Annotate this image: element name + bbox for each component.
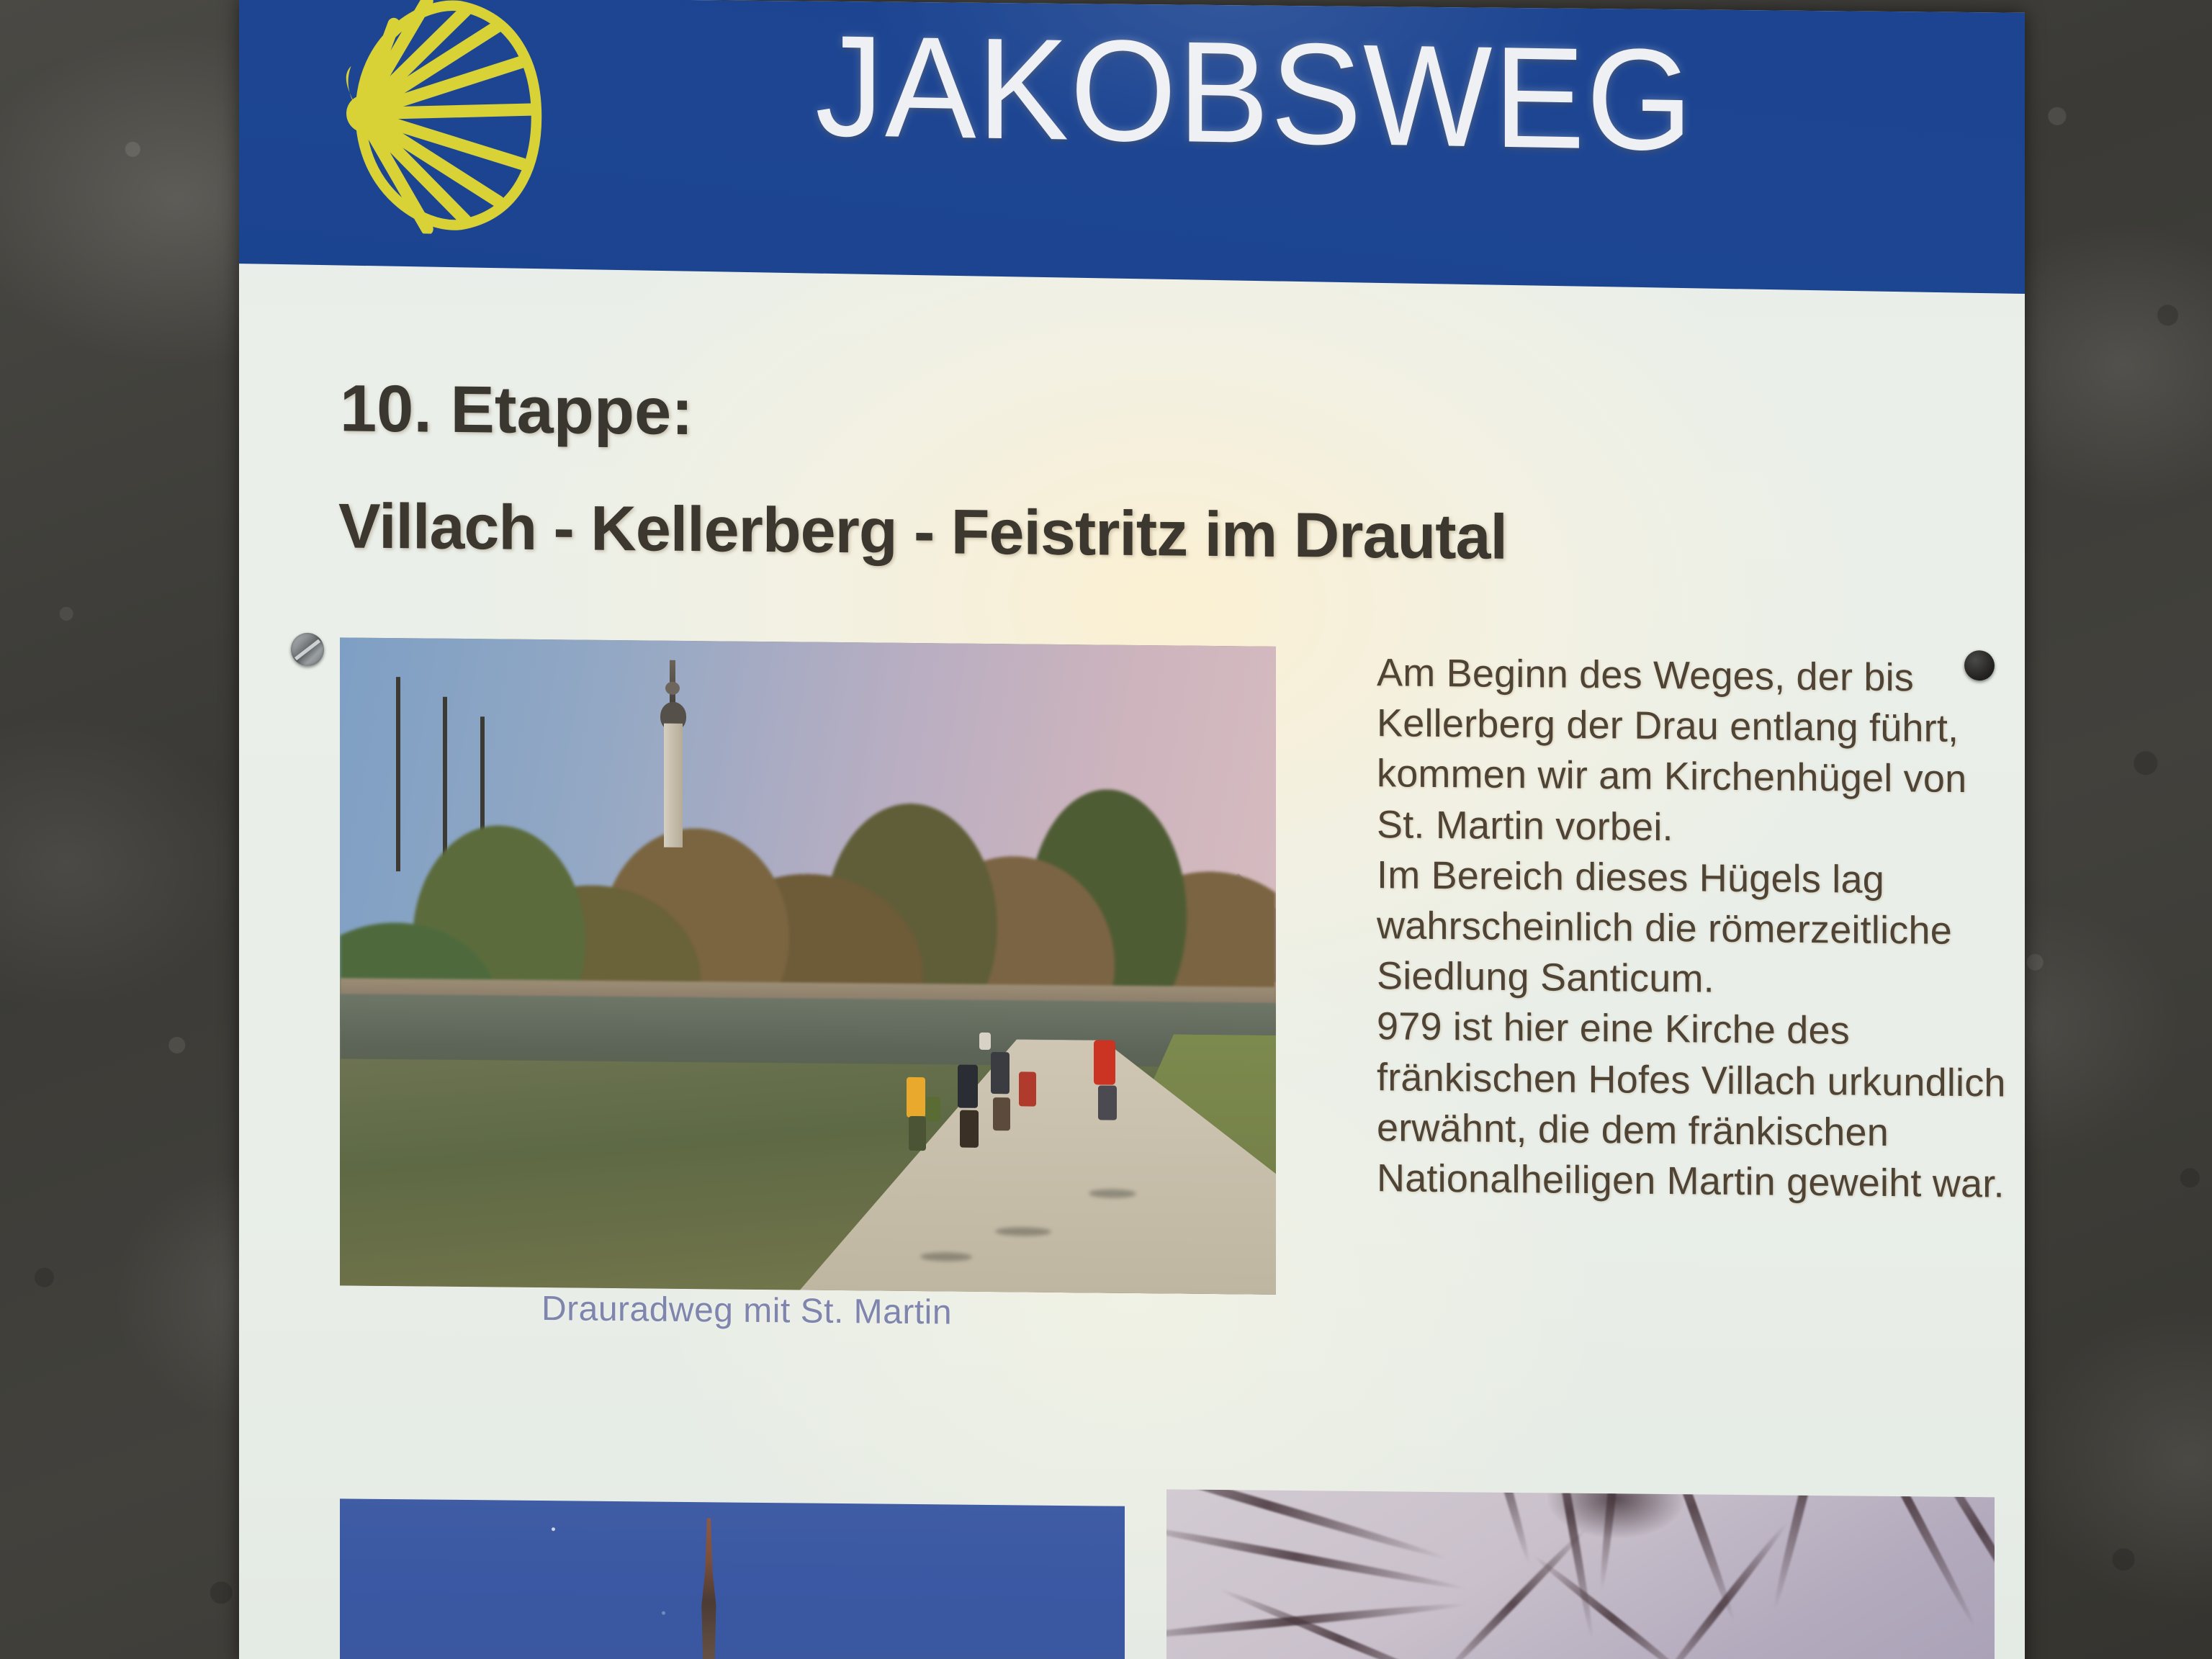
route-heading: Villach - Kellerberg - Feistritz im Drau… xyxy=(338,489,1507,574)
photo-walker xyxy=(909,1116,926,1151)
description-line: Siedlung Santicum. xyxy=(1377,950,2025,1007)
photo-walker xyxy=(958,1065,978,1108)
description-line: fränkischen Hofes Villach urkundlich xyxy=(1377,1052,2025,1109)
photo-walker xyxy=(1098,1085,1117,1120)
photo-spire xyxy=(701,1518,716,1659)
description-text: Am Beginn des Weges, der bis Kellerberg … xyxy=(1377,647,2025,1210)
stage-heading: 10. Etappe: xyxy=(340,371,693,450)
stone-wall-background: JAKOBSWEG 10. Etappe: Villach - Kellerbe… xyxy=(0,0,2212,1659)
photo-walker xyxy=(993,1097,1010,1130)
description-line: Im Bereich dieses Hügels lag xyxy=(1377,850,2025,907)
description-line: 979 ist hier eine Kirche des xyxy=(1377,1001,2025,1058)
photo-walker xyxy=(991,1052,1010,1094)
scallop-shell-icon xyxy=(323,0,560,236)
vaulted-ceiling-photo xyxy=(1166,1489,1995,1659)
drauradweg-photo xyxy=(340,637,1276,1294)
photo-church-st-martin xyxy=(654,660,691,848)
church-spire-photo xyxy=(340,1498,1125,1659)
photo-walker xyxy=(1019,1071,1036,1106)
photo-walker xyxy=(960,1110,979,1148)
description-line: Nationalheiligen Martin geweiht war. xyxy=(1377,1153,2025,1210)
screw-icon xyxy=(291,633,324,666)
photo-walker-arm xyxy=(979,1033,991,1050)
description-line: erwähnt, die dem fränkischen xyxy=(1377,1102,2025,1159)
description-line: St. Martin vorbei. xyxy=(1377,799,2025,856)
photo-caption: Drauradweg mit St. Martin xyxy=(541,1289,952,1332)
page-title: JAKOBSWEG xyxy=(815,14,1694,174)
description-line: wahrscheinlich die römerzeitliche xyxy=(1377,900,2025,957)
information-sign-panel: JAKOBSWEG 10. Etappe: Villach - Kellerbe… xyxy=(239,0,2025,1659)
photo-walker xyxy=(907,1077,925,1118)
description-line: Kellerberg der Drau entlang führt, xyxy=(1377,698,2025,755)
description-line: kommen wir am Kirchenhügel von xyxy=(1377,749,2025,806)
photo-walker-backpack xyxy=(926,1097,940,1121)
sign-header-band: JAKOBSWEG xyxy=(239,0,2025,295)
photo-walker-red-jacket xyxy=(1094,1040,1115,1084)
description-line: Am Beginn des Weges, der bis xyxy=(1377,647,2025,704)
